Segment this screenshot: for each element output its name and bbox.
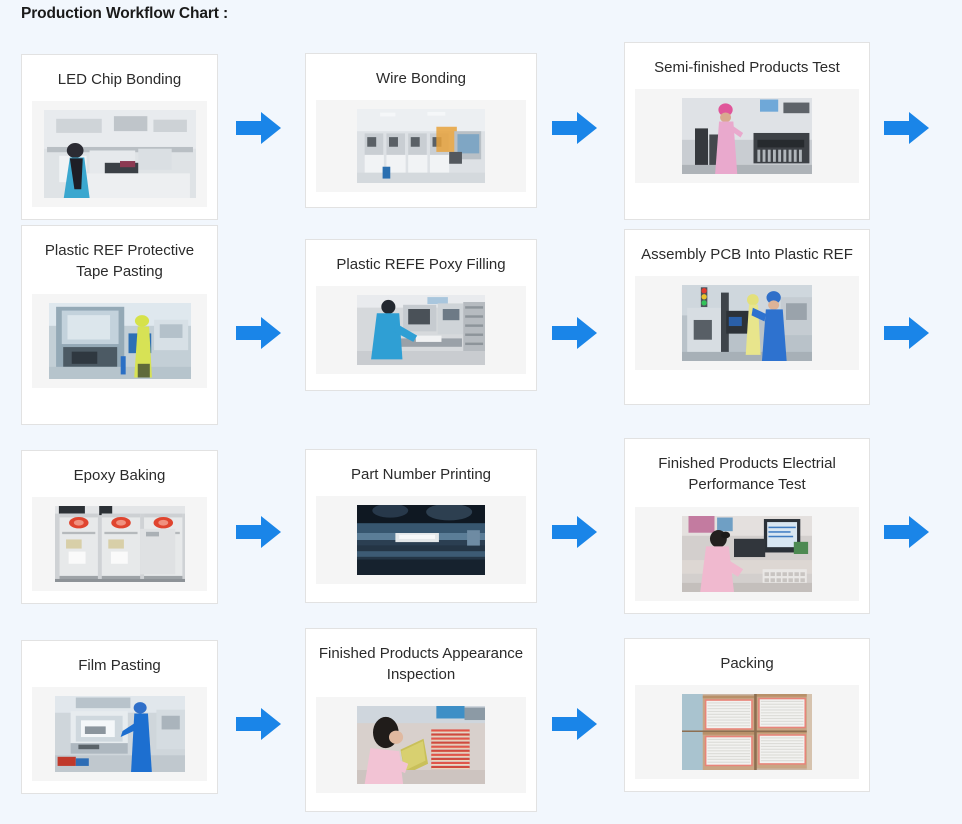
step-label: LED Chip Bonding — [32, 69, 207, 90]
right-arrow-icon — [236, 704, 282, 744]
step-label: Finished Products Appearance Inspection — [316, 643, 526, 686]
step-label: Film Pasting — [32, 655, 207, 676]
workflow-step-card[interactable]: Plastic REFE Poxy Filling — [305, 239, 537, 391]
workflow-step-card[interactable]: Finished Products Appearance Inspection — [305, 628, 537, 812]
right-arrow-icon — [236, 108, 282, 148]
step-label: Assembly PCB Into Plastic REF — [635, 244, 859, 265]
semi-finished-products-test-photo — [635, 89, 859, 183]
finished-products-electrial-performance-test-photo — [635, 507, 859, 601]
step-label: Semi-finished Products Test — [635, 57, 859, 78]
page-title: Production Workflow Chart : — [21, 5, 228, 23]
workflow-chart-page: Production Workflow Chart : LED Chip Bon… — [0, 0, 962, 824]
workflow-step-card[interactable]: LED Chip Bonding — [21, 54, 218, 220]
right-arrow-icon — [884, 512, 930, 552]
step-label: Packing — [635, 653, 859, 674]
film-pasting-photo — [32, 687, 207, 781]
workflow-step-card[interactable]: Film Pasting — [21, 640, 218, 794]
step-label: Finished Products Electrial Performance … — [635, 453, 859, 496]
step-label: Wire Bonding — [316, 68, 526, 89]
workflow-step-card[interactable]: Part Number Printing — [305, 449, 537, 603]
right-arrow-icon — [884, 108, 930, 148]
epoxy-baking-photo — [32, 497, 207, 591]
right-arrow-icon — [884, 313, 930, 353]
right-arrow-icon — [552, 512, 598, 552]
workflow-row-4: Film PastingFinished Products Appearance… — [0, 628, 962, 818]
right-arrow-icon — [236, 512, 282, 552]
workflow-step-card[interactable]: Epoxy Baking — [21, 450, 218, 604]
workflow-step-card[interactable]: Assembly PCB Into Plastic REF — [624, 229, 870, 405]
workflow-step-card[interactable]: Semi-finished Products Test — [624, 42, 870, 220]
workflow-step-card[interactable]: Wire Bonding — [305, 53, 537, 208]
right-arrow-icon — [552, 108, 598, 148]
finished-products-appearance-inspection-photo — [316, 697, 526, 793]
workflow-row-3: Epoxy BakingPart Number PrintingFinished… — [0, 430, 962, 628]
step-label: Plastic REF Protective Tape Pasting — [32, 240, 207, 283]
part-number-printing-photo — [316, 496, 526, 584]
plastic-refe-poxy-filling-photo — [316, 286, 526, 374]
workflow-rows: LED Chip BondingWire BondingSemi-finishe… — [0, 40, 962, 818]
led-chip-bonding-photo — [32, 101, 207, 207]
wire-bonding-photo — [316, 100, 526, 192]
right-arrow-icon — [552, 313, 598, 353]
plastic-ref-protective-tape-pasting-photo — [32, 294, 207, 388]
packing-photo — [635, 685, 859, 779]
workflow-row-1: LED Chip BondingWire BondingSemi-finishe… — [0, 40, 962, 225]
right-arrow-icon — [552, 704, 598, 744]
assembly-pcb-into-plastic-ref-photo — [635, 276, 859, 370]
step-label: Part Number Printing — [316, 464, 526, 485]
workflow-row-2: Plastic REF Protective Tape PastingPlast… — [0, 225, 962, 430]
workflow-step-card[interactable]: Finished Products Electrial Performance … — [624, 438, 870, 614]
workflow-step-card[interactable]: Plastic REF Protective Tape Pasting — [21, 225, 218, 425]
step-label: Plastic REFE Poxy Filling — [316, 254, 526, 275]
workflow-step-card[interactable]: Packing — [624, 638, 870, 792]
step-label: Epoxy Baking — [32, 465, 207, 486]
right-arrow-icon — [236, 313, 282, 353]
